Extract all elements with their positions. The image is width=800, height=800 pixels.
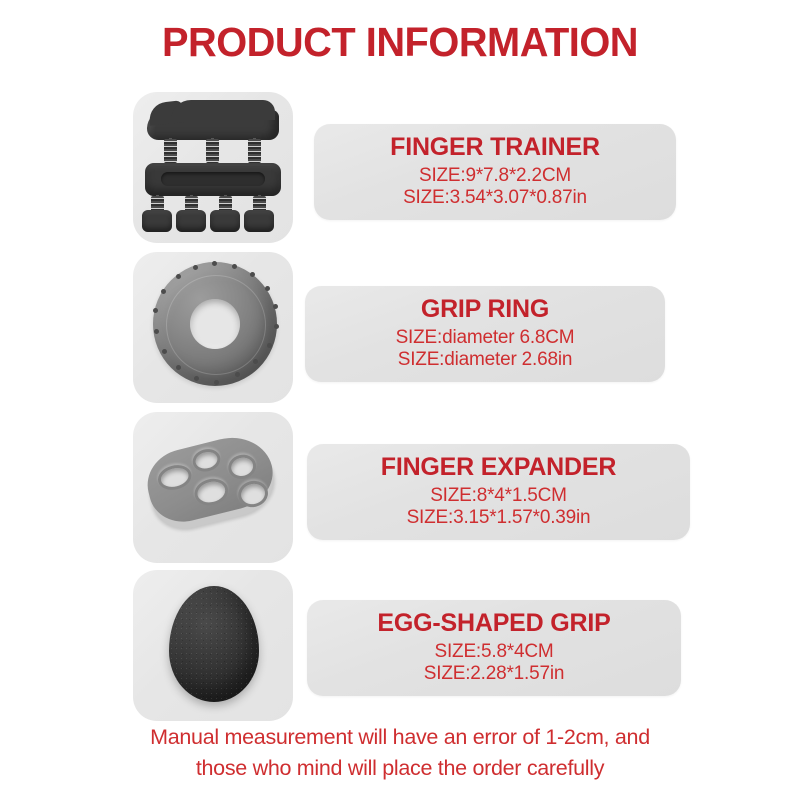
product-size-in: SIZE:3.54*3.07*0.87in [403, 187, 587, 209]
product-row: EGG-SHAPED GRIP SIZE:5.8*4CM SIZE:2.28*1… [0, 566, 800, 726]
product-name: FINGER EXPANDER [381, 454, 616, 480]
grip-ring-icon [133, 252, 293, 403]
product-size-cm: SIZE:8*4*1.5CM [430, 485, 567, 507]
product-size-in: SIZE:2.28*1.57in [424, 663, 564, 685]
product-size-in: SIZE:3.15*1.57*0.39in [407, 507, 591, 529]
product-image-tile [133, 92, 293, 243]
finger-trainer-icon [133, 92, 293, 243]
product-name: EGG-SHAPED GRIP [377, 610, 610, 636]
product-row: FINGER EXPANDER SIZE:8*4*1.5CM SIZE:3.15… [0, 408, 800, 568]
product-size-cm: SIZE:diameter 6.8CM [396, 327, 575, 349]
page-title: PRODUCT INFORMATION [12, 22, 788, 63]
product-size-in: SIZE:diameter 2.68in [398, 349, 572, 371]
disclaimer-line-1: Manual measurement will have an error of… [0, 722, 800, 753]
spec-card: GRIP RING SIZE:diameter 6.8CM SIZE:diame… [305, 286, 665, 382]
spec-card: FINGER TRAINER SIZE:9*7.8*2.2CM SIZE:3.5… [314, 124, 676, 220]
spec-card: FINGER EXPANDER SIZE:8*4*1.5CM SIZE:3.15… [307, 444, 690, 540]
product-size-cm: SIZE:9*7.8*2.2CM [419, 165, 571, 187]
product-image-tile [133, 252, 293, 403]
product-row: FINGER TRAINER SIZE:9*7.8*2.2CM SIZE:3.5… [0, 88, 800, 248]
disclaimer-line-2: those who mind will place the order care… [0, 753, 800, 784]
product-image-tile [133, 570, 293, 721]
product-name: GRIP RING [421, 296, 549, 322]
finger-expander-icon [133, 412, 293, 563]
measurement-disclaimer: Manual measurement will have an error of… [0, 722, 800, 784]
spec-card: EGG-SHAPED GRIP SIZE:5.8*4CM SIZE:2.28*1… [307, 600, 681, 696]
product-image-tile [133, 412, 293, 563]
product-row: GRIP RING SIZE:diameter 6.8CM SIZE:diame… [0, 248, 800, 408]
product-size-cm: SIZE:5.8*4CM [434, 641, 553, 663]
product-name: FINGER TRAINER [390, 134, 600, 160]
egg-shaped-grip-icon [133, 570, 293, 721]
